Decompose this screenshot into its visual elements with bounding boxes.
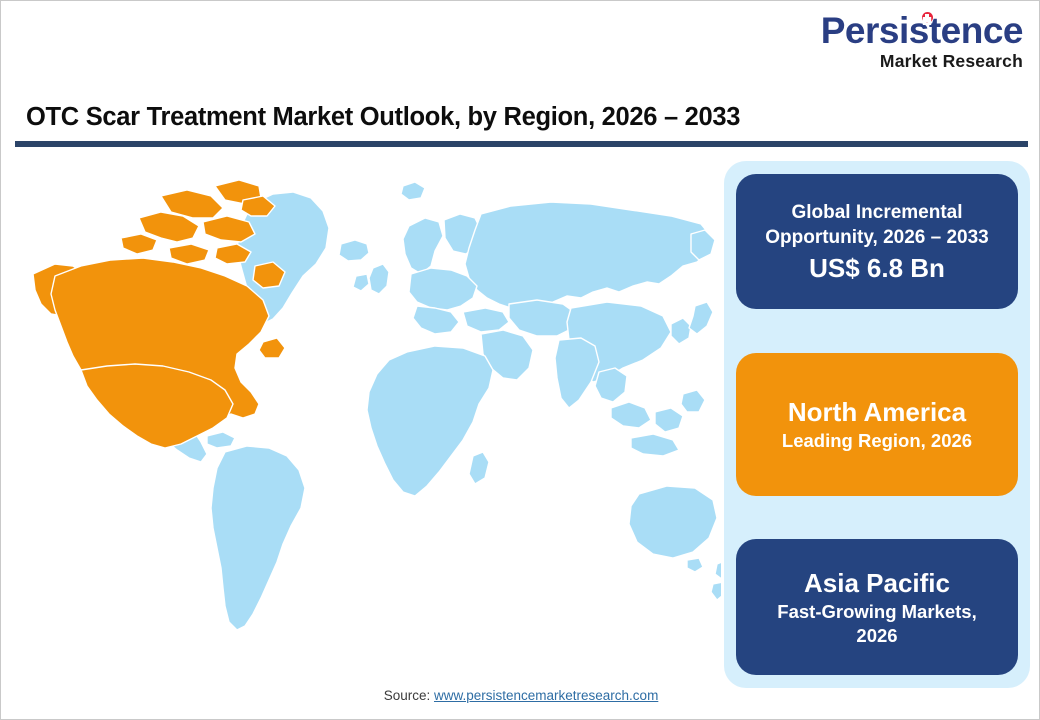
infographic-frame: Persistence Market Research OTC Scar Tre…: [0, 0, 1040, 720]
card-3-subtitle: Fast-Growing Markets,: [777, 600, 976, 624]
title-divider: [15, 141, 1028, 147]
source-link[interactable]: www.persistencemarketresearch.com: [434, 688, 658, 703]
card-1-line-1: Global Incremental: [791, 200, 962, 225]
card-1-line-2: Opportunity, 2026 – 2033: [765, 225, 989, 250]
card-2-subtitle: Leading Region, 2026: [782, 429, 972, 453]
logo-wordmark: Persistence: [821, 11, 1023, 51]
stats-panel: Global Incremental Opportunity, 2026 – 2…: [724, 161, 1030, 688]
company-logo: Persistence Market Research: [797, 11, 1023, 73]
card-1-value: US$ 6.8 Bn: [809, 252, 945, 284]
page-title: OTC Scar Treatment Market Outlook, by Re…: [26, 103, 740, 132]
world-map: [11, 156, 721, 676]
card-3-region: Asia Pacific: [804, 567, 950, 600]
card-3-subtitle-year: 2026: [856, 624, 897, 648]
source-label: Source:: [384, 688, 431, 703]
card-fast-growing-market[interactable]: Asia Pacific Fast-Growing Markets, 2026: [736, 539, 1018, 675]
source-footer: Source: www.persistencemarketresearch.co…: [1, 688, 1040, 703]
card-2-region: North America: [788, 396, 966, 429]
card-leading-region[interactable]: North America Leading Region, 2026: [736, 353, 1018, 496]
logo-medical-cross-icon: [922, 12, 933, 23]
logo-subtitle: Market Research: [797, 52, 1023, 71]
world-map-svg: [11, 156, 721, 676]
card-global-incremental-opportunity[interactable]: Global Incremental Opportunity, 2026 – 2…: [736, 174, 1018, 309]
